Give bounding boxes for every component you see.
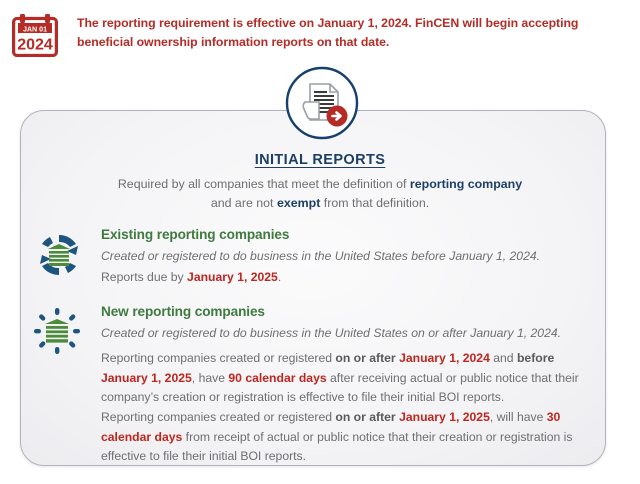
intro-line-2-prefix: and are not (211, 196, 277, 210)
intro-line-2: and are not exempt from that definition. (0, 195, 640, 212)
calendar-jan-01-2024-icon: JAN 01 2024 (12, 13, 58, 57)
calendar-month-label: JAN 01 (23, 25, 47, 33)
np1-b1: on or after (335, 351, 399, 365)
np1-r2: January 1, 2025 (101, 371, 192, 385)
existing-due-prefix: Reports due by (101, 270, 187, 284)
np1-p2: and (490, 351, 517, 365)
new-paragraph-2: Reporting companies created or registere… (101, 408, 597, 467)
new-building-rays-icon (32, 306, 82, 356)
np1-p3: , have (192, 371, 229, 385)
section-heading-existing: Existing reporting companies (101, 227, 289, 242)
calendar-year-label: 2024 (17, 37, 53, 54)
intro-line-1-bold: reporting company (410, 177, 522, 191)
section-subtitle-existing: Created or registered to do business in … (101, 248, 540, 265)
np1-p1: Reporting companies created or registere… (101, 351, 335, 365)
intro-line-2-suffix: from that definition. (320, 196, 429, 210)
existing-due-text: Reports due by January 1, 2025. (101, 268, 597, 288)
np2-p1: Reporting companies created or registere… (101, 410, 335, 424)
recycle-arrows-building-icon (34, 230, 84, 280)
np1-r3: 90 calendar days (228, 371, 326, 385)
np2-r1: January 1, 2025 (399, 410, 490, 424)
new-paragraph-1: Reporting companies created or registere… (101, 349, 597, 408)
existing-due-suffix: . (278, 270, 281, 284)
section-subtitle-new: Created or registered to do business in … (101, 325, 561, 342)
document-report-arrow-icon (285, 66, 359, 140)
banner-notice-text: The reporting requirement is effective o… (77, 14, 617, 52)
intro-line-1: Required by all companies that meet the … (0, 176, 640, 193)
top-banner: JAN 01 2024 The reporting requirement is… (0, 0, 640, 70)
page-title: INITIAL REPORTS (0, 152, 640, 168)
section-heading-new: New reporting companies (101, 304, 265, 319)
np1-r1: January 1, 2024 (399, 351, 490, 365)
np2-p2: , will have (490, 410, 547, 424)
np2-b1: on or after (335, 410, 399, 424)
intro-line-2-bold: exempt (277, 196, 320, 210)
intro-line-1-text: Required by all companies that meet the … (118, 177, 410, 191)
np1-b2: before (517, 351, 554, 365)
existing-due-date: January 1, 2025 (187, 270, 278, 284)
